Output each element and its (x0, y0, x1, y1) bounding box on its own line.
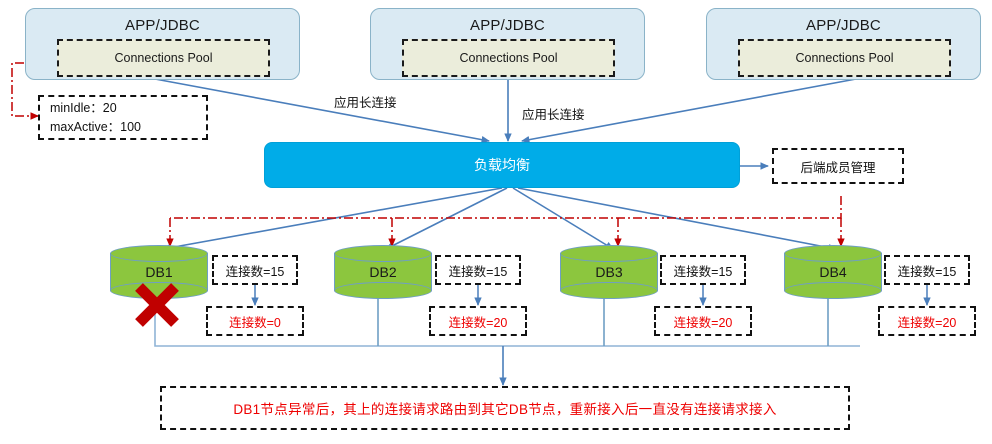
footer-note: DB1节点异常后，其上的连接请求路由到其它DB节点，重新接入后一直没有连接请求接… (160, 386, 850, 430)
db4-connections-after: 连接数=20 (878, 306, 976, 336)
wire-lb-to-db4 (518, 188, 836, 249)
connections-pool-2[interactable]: Connections Pool (402, 39, 615, 77)
wire-lb-to-db1 (163, 188, 502, 249)
db-node-db3[interactable]: DB3 (560, 245, 658, 299)
db1-failure-x-icon (130, 278, 184, 332)
db2-connections-before: 连接数=15 (435, 255, 521, 285)
backend-member-management-node[interactable]: 后端成员管理 (772, 148, 904, 184)
diagram-canvas: APP/JDBC Connections Pool APP/JDBC Conne… (0, 0, 992, 444)
edge-label-right: 应用长连接 (522, 104, 585, 123)
wire-lb-to-db2 (386, 188, 507, 249)
app-jdbc-title-1: APP/JDBC (26, 17, 299, 34)
db4-connections-before: 连接数=15 (884, 255, 970, 285)
app-jdbc-title-2: APP/JDBC (371, 17, 644, 34)
db2-label: DB2 (334, 245, 432, 299)
db-node-db4[interactable]: DB4 (784, 245, 882, 299)
connections-pool-1[interactable]: Connections Pool (57, 39, 270, 77)
app-jdbc-title-3: APP/JDBC (707, 17, 980, 34)
wire-health-check-bus (170, 196, 841, 218)
pool-config-callout: minIdle：20 maxActive：100 (38, 95, 208, 140)
db-node-db2[interactable]: DB2 (334, 245, 432, 299)
db2-connections-after: 连接数=20 (429, 306, 527, 336)
wire-lb-to-db3 (513, 188, 613, 249)
db3-label: DB3 (560, 245, 658, 299)
pool-config-max-active: maxActive：100 (50, 118, 141, 136)
db1-connections-after: 连接数=0 (206, 306, 304, 336)
pool-config-min-idle: minIdle：20 (50, 99, 117, 117)
db3-connections-before: 连接数=15 (660, 255, 746, 285)
db1-connections-before: 连接数=15 (212, 255, 298, 285)
connections-pool-3[interactable]: Connections Pool (738, 39, 951, 77)
db4-label: DB4 (784, 245, 882, 299)
load-balancer-node[interactable]: 负载均衡 (264, 142, 740, 188)
db3-connections-after: 连接数=20 (654, 306, 752, 336)
edge-label-left: 应用长连接 (334, 92, 397, 111)
